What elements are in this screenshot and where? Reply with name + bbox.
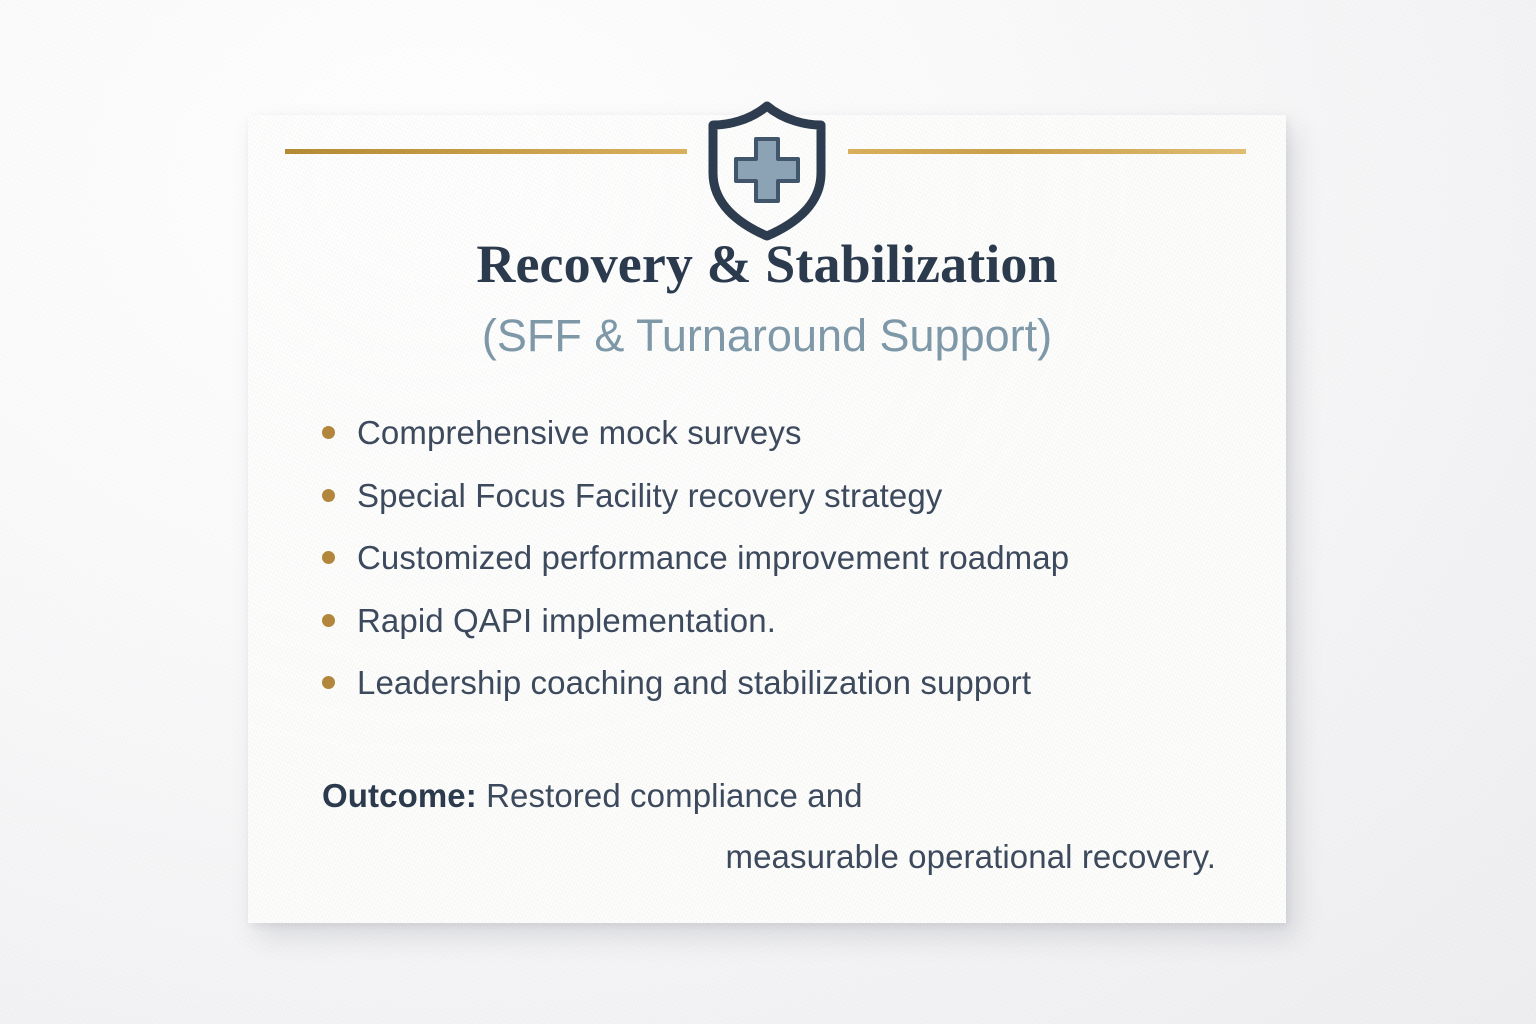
bullet-dot-icon (322, 551, 335, 564)
content-card: Recovery & Stabilization (SFF & Turnarou… (248, 115, 1286, 923)
list-item: Customized performance improvement roadm… (322, 538, 1246, 578)
outcome-text-line-2: measurable operational recovery. (322, 826, 1230, 887)
outcome-text-line-1: Restored compliance and (477, 777, 863, 814)
title-block: Recovery & Stabilization (SFF & Turnarou… (248, 233, 1286, 362)
bullet-dot-icon (322, 426, 335, 439)
card-header-ornament (248, 115, 1286, 243)
list-item: Comprehensive mock surveys (322, 413, 1246, 453)
gold-divider-left-icon (285, 149, 687, 154)
list-item: Special Focus Facility recovery strategy (322, 476, 1246, 516)
bullet-dot-icon (322, 676, 335, 689)
feature-list: Comprehensive mock surveys Special Focus… (322, 413, 1246, 726)
list-item-label: Leadership coaching and stabilization su… (357, 663, 1031, 703)
outcome-label: Outcome: (322, 777, 477, 814)
list-item: Leadership coaching and stabilization su… (322, 663, 1246, 703)
page-subtitle: (SFF & Turnaround Support) (248, 309, 1286, 362)
shield-cross-icon (697, 97, 837, 242)
list-item: Rapid QAPI implementation. (322, 601, 1246, 641)
gold-divider-right-icon (848, 149, 1246, 154)
list-item-label: Rapid QAPI implementation. (357, 601, 776, 641)
list-item-label: Comprehensive mock surveys (357, 413, 802, 453)
outcome-block: Outcome: Restored compliance and measura… (322, 765, 1230, 887)
bullet-dot-icon (322, 614, 335, 627)
page-title: Recovery & Stabilization (248, 233, 1286, 297)
list-item-label: Special Focus Facility recovery strategy (357, 476, 942, 516)
bullet-dot-icon (322, 489, 335, 502)
list-item-label: Customized performance improvement roadm… (357, 538, 1069, 578)
